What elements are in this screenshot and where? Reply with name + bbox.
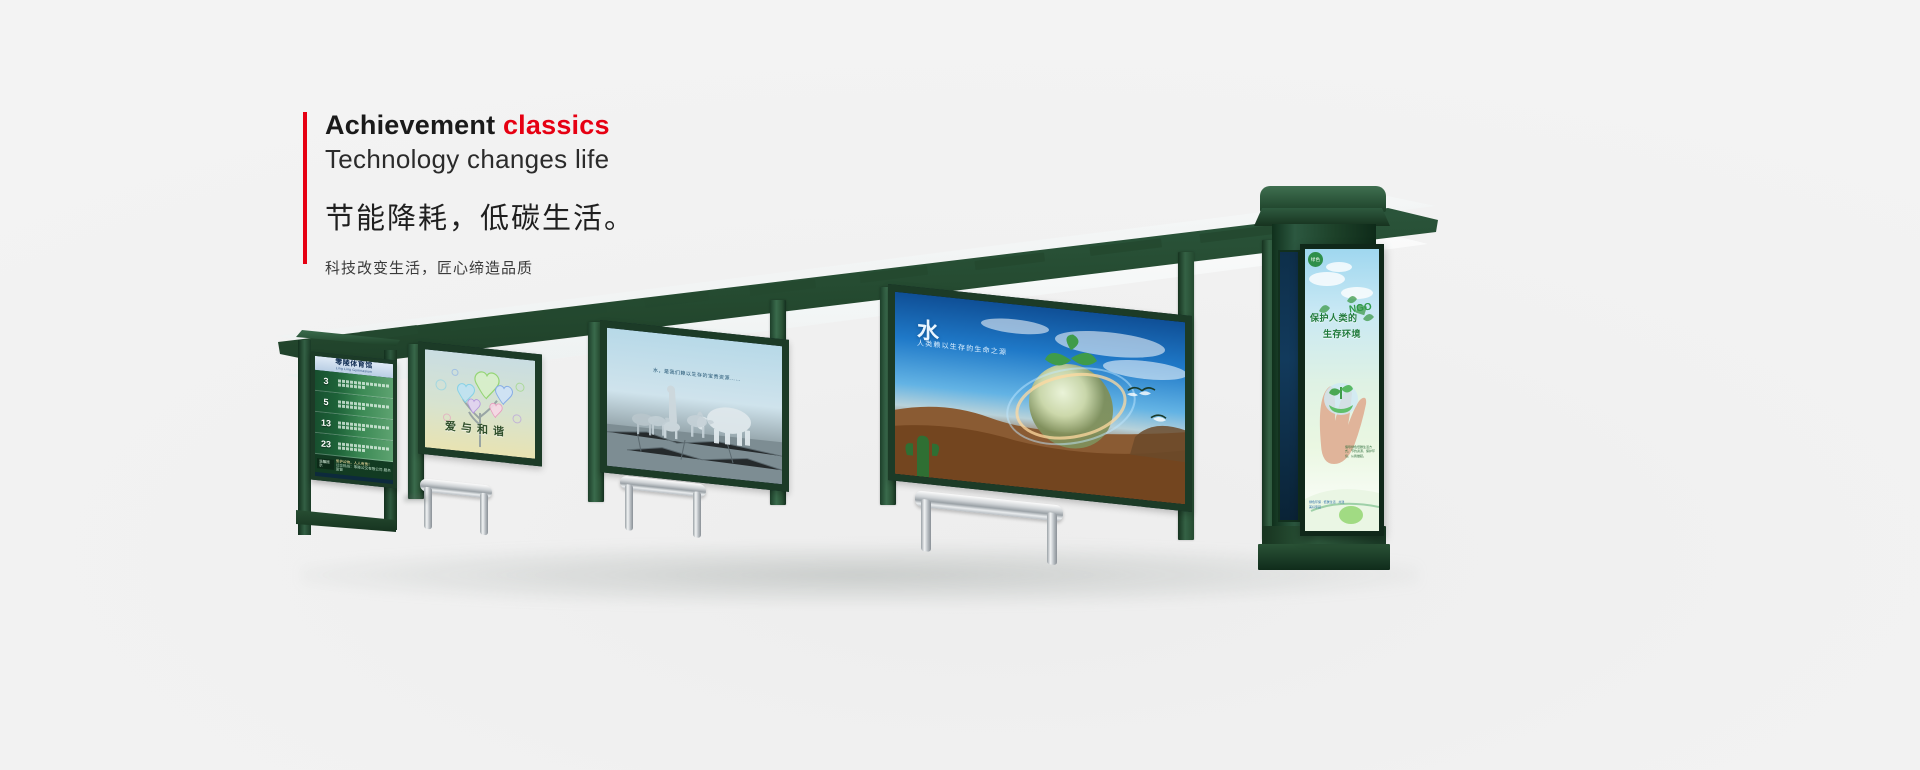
bench-leg-right bbox=[693, 491, 701, 538]
lightbox-animals[interactable]: 水，是我们赖以生存的宝贵资源…… bbox=[600, 320, 789, 492]
drought-animals-graphic bbox=[607, 328, 782, 484]
ground-shadow bbox=[300, 545, 1420, 605]
bench-1[interactable] bbox=[420, 478, 492, 542]
info-board-route-rows: 3 5 bbox=[315, 370, 393, 462]
lightbox-water[interactable]: 水 人类赖以生存的生命之源 bbox=[888, 284, 1192, 512]
pillar-side-panel[interactable] bbox=[1278, 250, 1300, 522]
bench-leg-left bbox=[424, 487, 432, 530]
route-number: 23 bbox=[315, 433, 337, 455]
pillar-plinth bbox=[1258, 544, 1390, 570]
route-number: 13 bbox=[315, 412, 337, 434]
info-board-base bbox=[296, 506, 396, 532]
bench-leg-left bbox=[625, 484, 633, 531]
info-board-column-left bbox=[298, 340, 311, 535]
lightbox-love-tree[interactable]: 爱与和谐 bbox=[418, 341, 542, 466]
poster-animals: 水，是我们赖以生存的宝贵资源…… bbox=[607, 328, 782, 484]
bench-leg-right bbox=[1047, 512, 1057, 565]
info-board-roof bbox=[296, 330, 400, 346]
info-board-unit: 零陵体育馆 Ling Ling Gymnasium 3 5 bbox=[296, 330, 400, 535]
bus-shelter: 零陵体育馆 Ling Ling Gymnasium 3 5 bbox=[0, 0, 1920, 770]
heart-tree-graphic bbox=[425, 349, 535, 459]
hands-sprout-graphic bbox=[1305, 249, 1379, 531]
route-number: 3 bbox=[315, 370, 337, 392]
bench-leg-right bbox=[480, 493, 488, 536]
route-number: 5 bbox=[315, 391, 337, 413]
render-stage: Achievement classics Technology changes … bbox=[0, 0, 1920, 770]
poster-love-tree: 爱与和谐 bbox=[425, 349, 535, 459]
poster-badge-green: 绿色 bbox=[1308, 252, 1323, 267]
poster-footer-text: 绿色环保 · 低碳生活 · 共建美好家园 bbox=[1309, 500, 1345, 509]
lightbox-green-hands[interactable]: 绿色 保护人类的 NGO 生存环境 倡导绿色低碳生活方式，节约资源，保护环境，从… bbox=[1300, 244, 1384, 536]
poster-green-hands: 绿色 保护人类的 NGO 生存环境 倡导绿色低碳生活方式，节约资源，保护环境，从… bbox=[1305, 249, 1379, 531]
poster-title-line2: 生存环境 bbox=[1323, 327, 1361, 340]
poster-body-text: 倡导绿色低碳生活方式，节约资源，保护环境，从我做起。 bbox=[1345, 445, 1375, 458]
bench-leg-left bbox=[921, 499, 931, 552]
bus-route-info-board[interactable]: 零陵体育馆 Ling Ling Gymnasium 3 5 bbox=[311, 351, 397, 488]
shelter-post-base bbox=[404, 495, 428, 502]
bench-2[interactable] bbox=[620, 475, 706, 546]
advertising-pillar: 绿色 保护人类的 NGO 生存环境 倡导绿色低碳生活方式，节约资源，保护环境，从… bbox=[1258, 186, 1386, 584]
poster-water: 水 人类赖以生存的生命之源 bbox=[895, 292, 1185, 504]
info-board-footer-tag: 温馨提示 bbox=[317, 458, 334, 470]
